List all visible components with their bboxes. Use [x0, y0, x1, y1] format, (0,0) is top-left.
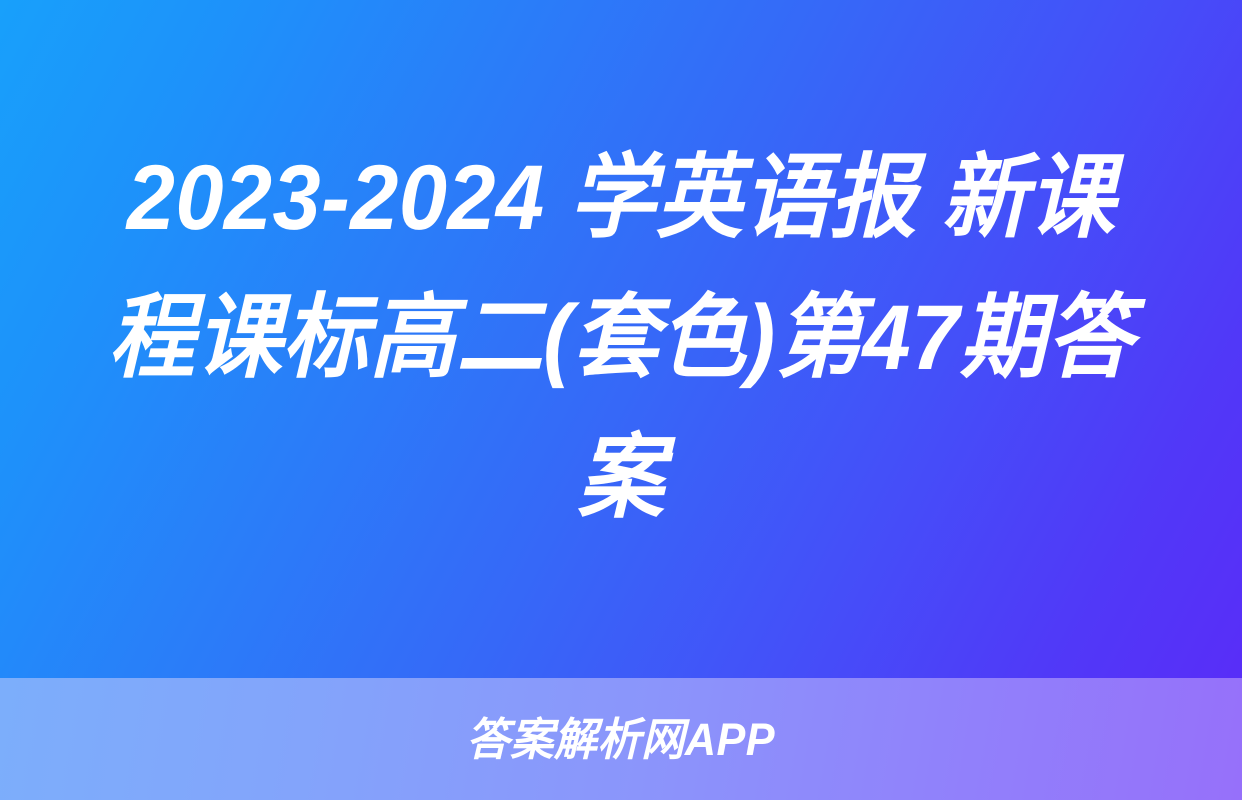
watermark-band: 答案解析网APP: [0, 678, 1242, 800]
hero-section: 2023-2024 学英语报 新课程课标高二(套色)第47期答案: [0, 0, 1242, 678]
page-title: 2023-2024 学英语报 新课程课标高二(套色)第47期答案: [88, 129, 1154, 548]
banner-image: 2023-2024 学英语报 新课程课标高二(套色)第47期答案 答案解析网AP…: [0, 0, 1242, 800]
watermark-label: 答案解析网APP: [467, 717, 776, 762]
